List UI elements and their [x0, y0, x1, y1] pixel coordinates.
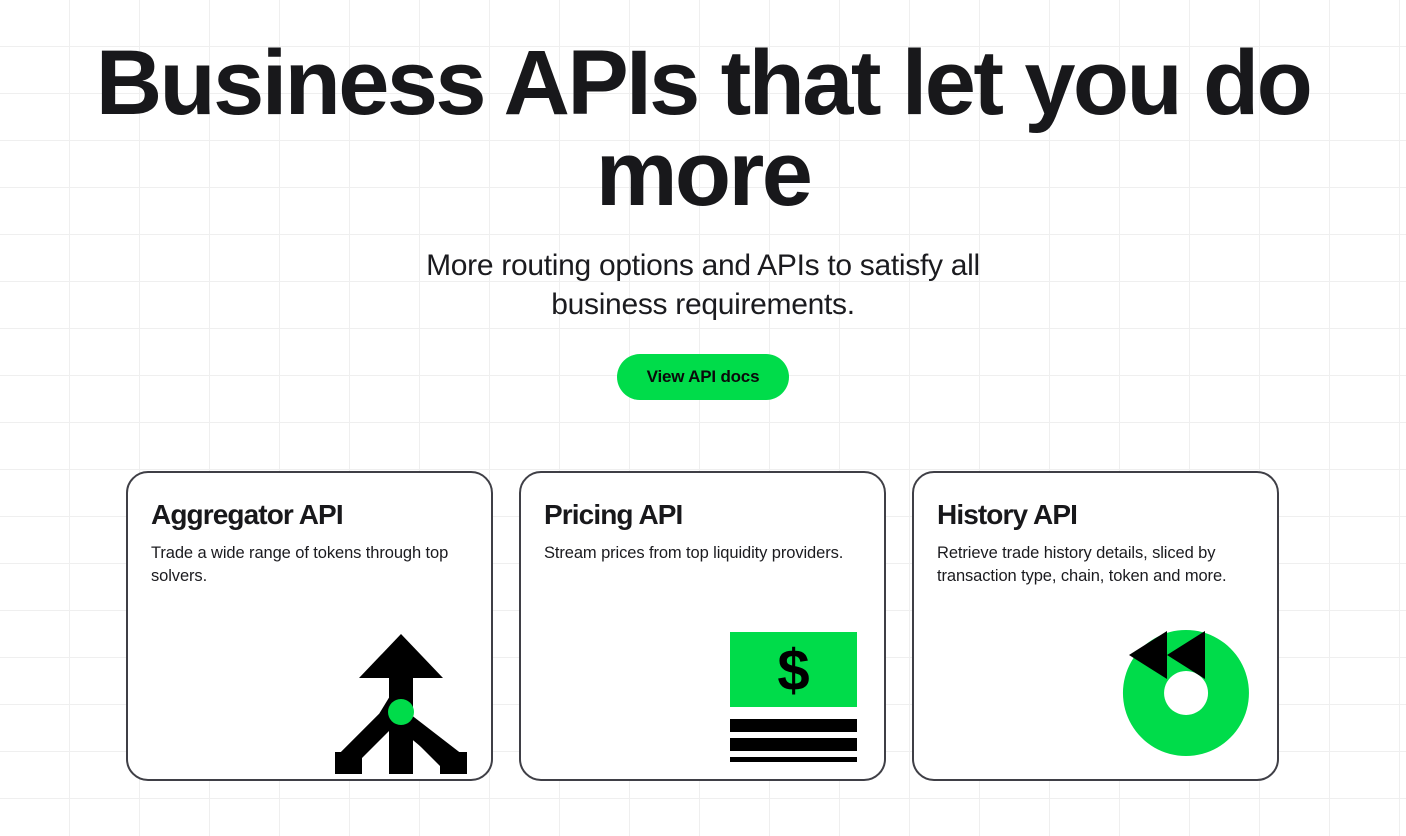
page-title: Business APIs that let you do more [0, 0, 1406, 220]
card-pricing-api[interactable]: Pricing API Stream prices from top liqui… [519, 471, 886, 781]
card-history-api[interactable]: History API Retrieve trade history detai… [912, 471, 1279, 781]
hero-cta-wrapper: View API docs [0, 324, 1406, 400]
hero-section: Business APIs that let you do more More … [0, 0, 1406, 400]
card-title: Pricing API [521, 473, 884, 531]
rewind-donut-icon [1122, 629, 1255, 779]
card-description: Trade a wide range of tokens through top… [128, 531, 491, 588]
merge-arrow-up-icon [335, 634, 467, 779]
card-title: History API [914, 473, 1277, 531]
api-cards-row: Aggregator API Trade a wide range of tok… [126, 471, 1280, 781]
dollar-banknote-icon: $ [730, 632, 857, 767]
hero-subtitle: More routing options and APIs to satisfy… [373, 220, 1033, 324]
svg-text:$: $ [777, 638, 809, 703]
card-description: Stream prices from top liquidity provide… [521, 531, 884, 565]
card-aggregator-api[interactable]: Aggregator API Trade a wide range of tok… [126, 471, 493, 781]
page-root: Business APIs that let you do more More … [0, 0, 1406, 836]
card-description: Retrieve trade history details, sliced b… [914, 531, 1277, 588]
card-title: Aggregator API [128, 473, 491, 531]
view-api-docs-button[interactable]: View API docs [617, 354, 790, 400]
